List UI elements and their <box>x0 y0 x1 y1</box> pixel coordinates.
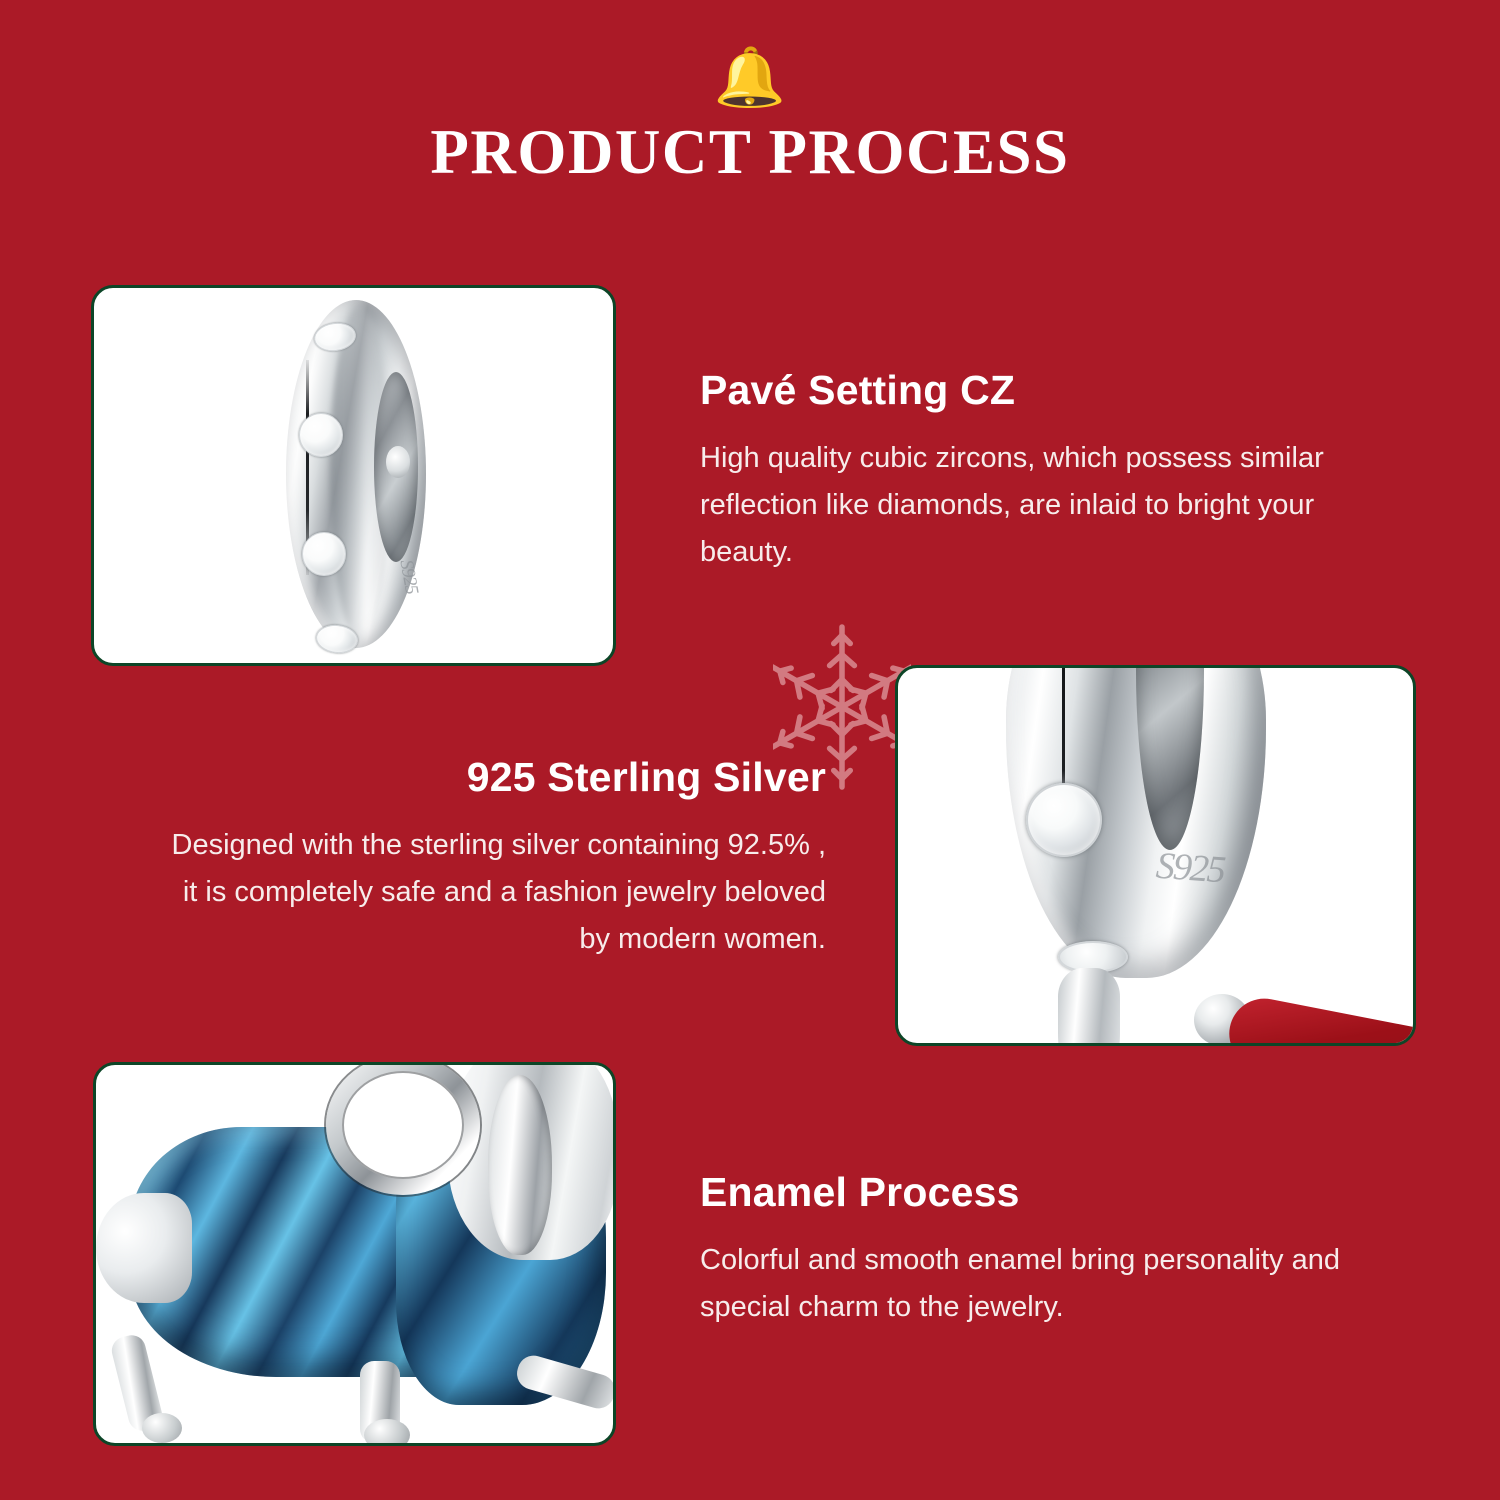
feature-body: Colorful and smooth enamel bring persona… <box>700 1237 1420 1331</box>
charm-lower-arm <box>1058 968 1120 1043</box>
dog-ear <box>488 1075 552 1255</box>
hallmark-stamp: S925 <box>1155 844 1226 893</box>
ring-inner-highlight <box>386 446 410 478</box>
feature-text-sterling-silver: 925 Sterling Silver Designed with the st… <box>150 755 826 963</box>
red-enamel-element <box>1223 993 1413 1043</box>
pave-ring-photo: S925 <box>94 288 613 663</box>
cz-stone <box>302 532 346 576</box>
dog-snout <box>96 1193 192 1303</box>
cz-stone <box>1026 783 1102 857</box>
cz-stone <box>299 413 343 457</box>
product-image-sterling-silver: S925 <box>895 665 1416 1046</box>
product-image-enamel-process <box>93 1062 616 1446</box>
dog-middle-paw <box>364 1419 410 1443</box>
feature-heading: Pavé Setting CZ <box>700 368 1360 413</box>
feature-text-enamel-process: Enamel Process Colorful and smooth ename… <box>700 1170 1420 1331</box>
dog-front-paw <box>142 1413 182 1443</box>
feature-body: Designed with the sterling silver contai… <box>150 822 826 963</box>
page-header: 🔔 PRODUCT PROCESS <box>0 0 1500 188</box>
feature-heading: Enamel Process <box>700 1170 1420 1215</box>
product-image-pave-setting: S925 <box>91 285 616 666</box>
feature-text-pave-setting: Pavé Setting CZ High quality cubic zirco… <box>700 368 1360 576</box>
feature-body: High quality cubic zircons, which posses… <box>700 435 1360 576</box>
page-title: PRODUCT PROCESS <box>0 116 1500 188</box>
infographic-canvas: 🔔 PRODUCT PROCESS S925 Pavé Setting CZ H… <box>0 0 1500 1500</box>
feature-heading: 925 Sterling Silver <box>150 755 826 800</box>
christmas-bells-icon: 🔔 <box>0 48 1500 110</box>
enamel-dog-photo <box>96 1065 613 1443</box>
silver-macro-photo: S925 <box>898 668 1413 1043</box>
